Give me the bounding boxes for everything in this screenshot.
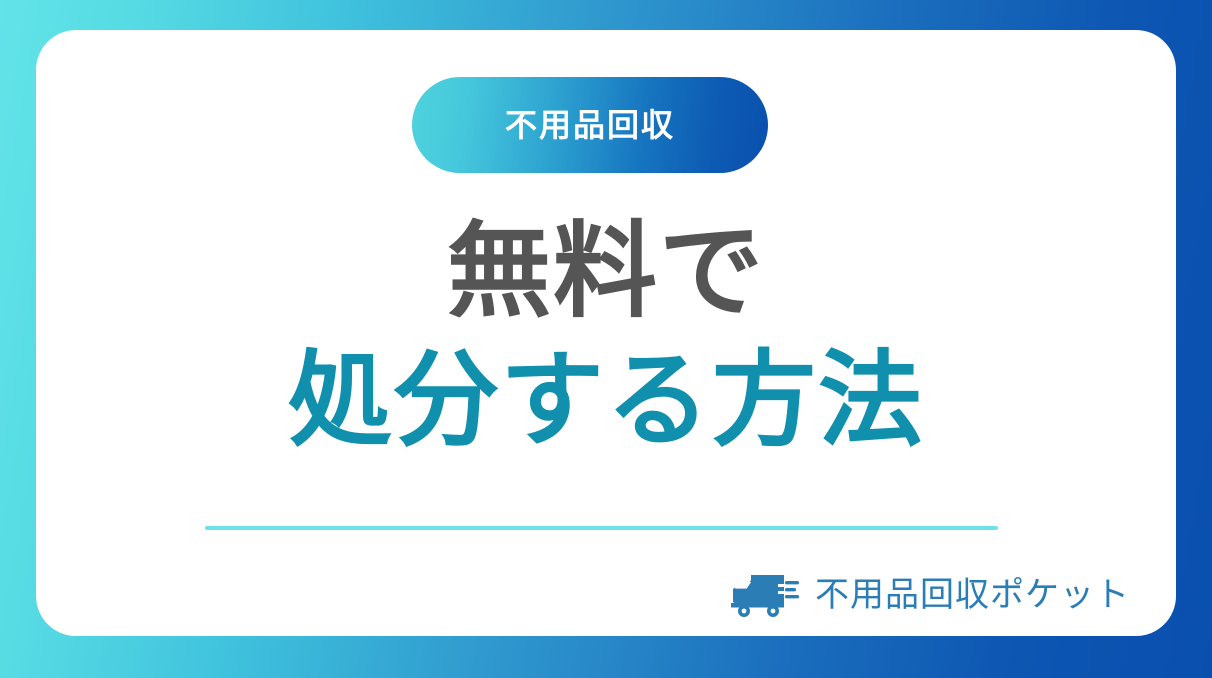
category-badge-label: 不用品回収 [505, 109, 675, 141]
headline-line-1: 無料で [36, 210, 1176, 333]
headline-line-2: 処分する方法 [36, 339, 1176, 462]
banner-gradient-frame: 不用品回収 無料で 処分する方法 [0, 0, 1212, 678]
divider-rule [205, 526, 998, 530]
brand-logo-text: 不用品回収ポケット [815, 578, 1130, 612]
delivery-truck-icon [729, 572, 801, 618]
category-badge: 不用品回収 [412, 77, 768, 173]
headline: 無料で 処分する方法 [36, 210, 1176, 461]
content-card: 不用品回収 無料で 処分する方法 [36, 30, 1176, 636]
brand-logo: 不用品回収ポケット [729, 572, 1130, 618]
